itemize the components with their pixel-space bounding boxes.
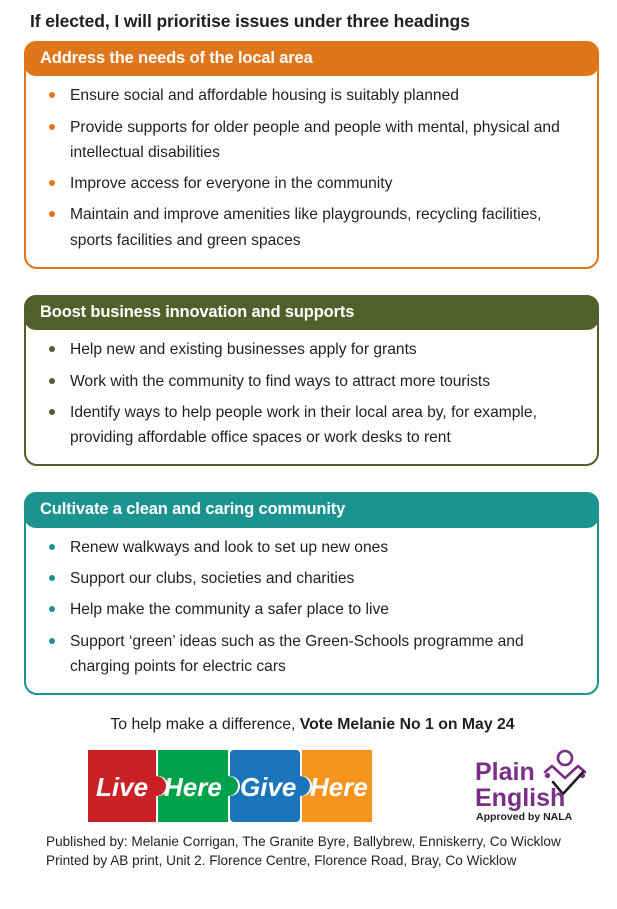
section-heading-community: Cultivate a clean and caring community <box>24 492 599 527</box>
list-item: Provide supports for older people and pe… <box>40 115 581 166</box>
list-item: Renew walkways and look to set up new on… <box>40 535 581 560</box>
cta-plain-text: To help make a difference, <box>110 716 299 733</box>
list-item: Support ‘green’ ideas such as the Green-… <box>40 629 581 680</box>
bullet-list-community: Renew walkways and look to set up new on… <box>40 535 581 679</box>
section-card-local-area: Address the needs of the local area Ensu… <box>24 41 599 269</box>
section-card-community: Cultivate a clean and caring community R… <box>24 492 599 695</box>
section-heading-local-area: Address the needs of the local area <box>24 41 599 76</box>
imprint-line-printed: Printed by AB print, Unit 2. Florence Ce… <box>46 851 607 871</box>
plain-english-nala-logo: Plain English Approved by NALA <box>473 748 593 829</box>
bullet-dot-icon <box>49 92 55 98</box>
section-card-business: Boost business innovation and supports H… <box>24 295 599 466</box>
plain-english-approval: Approved by NALA <box>476 811 573 823</box>
bullet-dot-icon <box>49 409 55 415</box>
puzzle-label-3: Give <box>240 772 296 802</box>
imprint-block: Published by: Melanie Corrigan, The Gran… <box>10 832 607 871</box>
bullet-dot-icon <box>49 606 55 612</box>
list-item-text: Identify ways to help people work in the… <box>70 404 537 446</box>
section-body-community: Renew walkways and look to set up new on… <box>26 526 597 693</box>
section-body-business: Help new and existing businesses apply f… <box>26 328 597 464</box>
list-item: Ensure social and affordable housing is … <box>40 83 581 108</box>
nala-person-tick-icon <box>545 751 585 778</box>
imprint-line-published: Published by: Melanie Corrigan, The Gran… <box>46 832 607 852</box>
live-here-give-here-logo: Live Here Give Here <box>88 750 372 827</box>
list-item-text: Support ‘green’ ideas such as the Green-… <box>70 633 524 675</box>
cta-bold-text: Vote Melanie No 1 on May 24 <box>300 716 515 733</box>
bullet-dot-icon <box>49 378 55 384</box>
puzzle-label-1: Live <box>96 772 148 802</box>
bullet-dot-icon <box>49 638 55 644</box>
section-body-local-area: Ensure social and affordable housing is … <box>26 74 597 267</box>
footer: To help make a difference, Vote Melanie … <box>10 715 607 871</box>
list-item-text: Provide supports for older people and pe… <box>70 119 560 161</box>
plain-english-line1: Plain <box>475 758 535 786</box>
bullet-dot-icon <box>49 346 55 352</box>
bullet-dot-icon <box>49 544 55 550</box>
bullet-list-business: Help new and existing businesses apply f… <box>40 337 581 450</box>
plain-english-line2: English <box>475 784 565 812</box>
call-to-action: To help make a difference, Vote Melanie … <box>10 715 607 736</box>
logo-row: Live Here Give Here Pla <box>10 748 607 826</box>
list-item: Identify ways to help people work in the… <box>40 400 581 451</box>
bullet-dot-icon <box>49 575 55 581</box>
list-item-text: Ensure social and affordable housing is … <box>70 87 459 104</box>
bullet-list-local-area: Ensure social and affordable housing is … <box>40 83 581 253</box>
list-item: Help new and existing businesses apply f… <box>40 337 581 362</box>
list-item: Maintain and improve amenities like play… <box>40 202 581 253</box>
list-item: Support our clubs, societies and chariti… <box>40 566 581 591</box>
puzzle-label-4: Here <box>310 772 368 802</box>
section-heading-business: Boost business innovation and supports <box>24 295 599 330</box>
bullet-dot-icon <box>49 211 55 217</box>
bullet-dot-icon <box>49 180 55 186</box>
list-item-text: Work with the community to find ways to … <box>70 373 490 390</box>
list-item: Help make the community a safer place to… <box>40 597 581 622</box>
list-item-text: Help make the community a safer place to… <box>70 601 389 618</box>
list-item-text: Improve access for everyone in the commu… <box>70 175 392 192</box>
puzzle-logo-icon: Live Here Give Here <box>88 750 372 822</box>
page-title: If elected, I will prioritise issues und… <box>10 0 607 41</box>
list-item: Improve access for everyone in the commu… <box>40 171 581 196</box>
list-item: Work with the community to find ways to … <box>40 369 581 394</box>
list-item-text: Help new and existing businesses apply f… <box>70 341 417 358</box>
leaflet-page: If elected, I will prioritise issues und… <box>0 0 617 909</box>
list-item-text: Maintain and improve amenities like play… <box>70 206 542 248</box>
list-item-text: Renew walkways and look to set up new on… <box>70 539 388 556</box>
plain-english-logo-icon: Plain English Approved by NALA <box>473 748 593 824</box>
list-item-text: Support our clubs, societies and chariti… <box>70 570 354 587</box>
puzzle-label-2: Here <box>164 772 222 802</box>
bullet-dot-icon <box>49 124 55 130</box>
